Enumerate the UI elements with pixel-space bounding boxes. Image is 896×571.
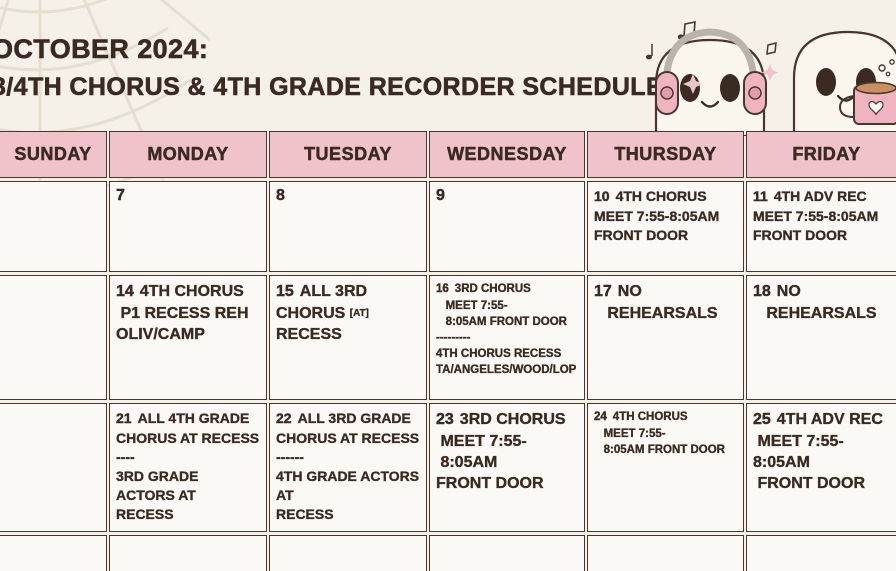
event-line: FRONT DOOR	[753, 473, 896, 494]
day-number: 23	[436, 411, 454, 429]
day-cell-empty[interactable]	[587, 535, 744, 571]
event-details: MEET 7:55- 8:05AM FRONT DOOR	[594, 426, 737, 458]
event-line: MEET 7:55-	[436, 431, 578, 452]
event-line: 8:05AM	[436, 452, 578, 473]
event-title: ALL 3RD	[300, 281, 367, 302]
ghost-illustrations	[560, 0, 896, 136]
event-title: 4TH ADV REC	[777, 409, 883, 430]
event-line: RECESS	[276, 324, 420, 345]
event-details: CHORUS [AT]RECESS	[276, 303, 420, 345]
event-line: FRONT DOOR	[594, 226, 737, 245]
day-cell-9[interactable]: 9	[429, 181, 585, 272]
dow-label: SUNDAY	[14, 144, 91, 165]
event-title: ALL 3RD GRADE	[298, 409, 411, 428]
event-title: 3RD CHORUS	[460, 409, 566, 430]
dow-sunday: SUNDAY	[0, 131, 107, 178]
ghost-with-coffee-icon	[794, 32, 896, 136]
event-line: 8:05AM	[753, 452, 896, 473]
day-number: 14	[116, 283, 134, 301]
event-line: 4TH GRADE ACTORS AT	[276, 467, 420, 505]
day-cell-8[interactable]: 8	[269, 181, 427, 272]
event-line: ------	[276, 448, 420, 467]
event-title: 4TH ADV REC	[774, 187, 867, 206]
day-number: 24	[594, 411, 607, 423]
day-number: 25	[753, 411, 771, 429]
day-cell-header: 233RD CHORUS	[436, 409, 578, 430]
day-number: 15	[276, 283, 294, 301]
event-details: P1 RECESS REHOLIV/CAMP	[116, 303, 260, 345]
event-line: REHEARSALS	[594, 303, 737, 324]
dow-label: TUESDAY	[304, 144, 392, 165]
event-line: MEET 7:55-	[436, 298, 578, 314]
day-cell-7[interactable]: 7	[109, 181, 267, 272]
ghost-with-headphones-icon	[656, 32, 779, 136]
event-line: REHEARSALS	[753, 303, 896, 324]
event-line: TA/ANGELES/WOOD/LOP	[436, 362, 578, 378]
event-details: MEET 7:55-8:05AMFRONT DOOR	[753, 207, 896, 245]
day-number: 9	[436, 187, 445, 205]
calendar-week-row: 789104TH CHORUSMEET 7:55-8:05AMFRONT DOO…	[0, 181, 896, 272]
day-cell-24[interactable]: 244TH CHORUS MEET 7:55- 8:05AM FRONT DOO…	[587, 403, 744, 532]
event-line: 8:05AM FRONT DOOR	[594, 442, 737, 458]
day-cell-header: 21ALL 4TH GRADE	[116, 409, 260, 428]
page-title-month: OCTOBER 2024:	[0, 32, 592, 66]
calendar-header: OCTOBER 2024: 3/4TH CHORUS & 4TH GRADE R…	[0, 0, 896, 131]
event-details: MEET 7:55-8:05AM FRONT DOOR	[753, 431, 896, 494]
dow-monday: MONDAY	[109, 131, 267, 178]
day-cell-header: 104TH CHORUS	[594, 187, 737, 206]
day-cell-18[interactable]: 18NO REHEARSALS	[746, 275, 896, 400]
day-cell-header: 244TH CHORUS	[594, 409, 737, 425]
event-line: OLIV/CAMP	[116, 324, 260, 345]
event-details: MEET 7:55- 8:05AMFRONT DOOR	[436, 431, 578, 494]
day-number: 7	[116, 187, 125, 205]
day-cell-22[interactable]: 22ALL 3RD GRADECHORUS AT RECESS------4TH…	[269, 403, 427, 532]
event-line: FRONT DOOR	[436, 473, 578, 494]
day-cell-17[interactable]: 17NO REHEARSALS	[587, 275, 744, 400]
day-cell-empty[interactable]	[0, 275, 107, 400]
music-notes-icon	[646, 0, 896, 59]
day-cell-11[interactable]: 114TH ADV RECMEET 7:55-8:05AMFRONT DOOR	[746, 181, 896, 272]
day-cell-25[interactable]: 254TH ADV REC MEET 7:55-8:05AM FRONT DOO…	[746, 403, 896, 532]
day-cell-empty[interactable]	[269, 535, 427, 571]
day-cell-header: 17NO	[594, 281, 737, 302]
day-cell-header: 22ALL 3RD GRADE	[276, 409, 420, 428]
event-details: REHEARSALS	[753, 303, 896, 324]
event-line: RECESS	[276, 505, 420, 524]
event-title: 4TH CHORUS	[616, 187, 707, 206]
event-title: ALL 4TH GRADE	[138, 409, 250, 428]
day-of-week-row: SUNDAY MONDAY TUESDAY WEDNESDAY THURSDAY…	[0, 131, 896, 178]
day-number: 22	[276, 410, 292, 426]
event-line: CHORUS AT RECESS	[276, 429, 420, 448]
day-cell-header: 163RD CHORUS	[436, 281, 578, 297]
dow-tuesday: TUESDAY	[269, 131, 427, 178]
dow-label: FRIDAY	[792, 144, 860, 165]
dow-wednesday: WEDNESDAY	[429, 131, 585, 178]
dow-label: WEDNESDAY	[447, 144, 567, 165]
day-cell-header: 8	[276, 187, 420, 205]
day-cell-21[interactable]: 21ALL 4TH GRADECHORUS AT RECESS----3RD G…	[109, 403, 267, 532]
day-cell-header: 7	[116, 187, 260, 205]
day-cell-header: 144TH CHORUS	[116, 281, 260, 302]
event-line: MEET 7:55-8:05AM	[594, 207, 737, 226]
day-cell-14[interactable]: 144TH CHORUS P1 RECESS REHOLIV/CAMP	[109, 275, 267, 400]
day-number: 21	[116, 410, 132, 426]
event-line: 3RD GRADE ACTORS AT	[116, 467, 260, 505]
day-cell-header: 9	[436, 187, 578, 205]
day-cell-10[interactable]: 104TH CHORUSMEET 7:55-8:05AMFRONT DOOR	[587, 181, 744, 272]
event-line: ----	[116, 448, 260, 467]
dow-friday: FRIDAY	[746, 131, 896, 178]
event-details: CHORUS AT RECESS----3RD GRADE ACTORS ATR…	[116, 429, 260, 524]
event-title: 4TH CHORUS	[613, 409, 688, 425]
calendar-week-row: 21ALL 4TH GRADECHORUS AT RECESS----3RD G…	[0, 403, 896, 532]
event-details: MEET 7:55-8:05AMFRONT DOOR	[594, 207, 737, 245]
day-cell-23[interactable]: 233RD CHORUS MEET 7:55- 8:05AMFRONT DOOR	[429, 403, 585, 532]
event-title: 4TH CHORUS	[140, 281, 244, 302]
day-number: 16	[436, 283, 449, 295]
day-cell-empty[interactable]	[0, 181, 107, 272]
day-number: 8	[276, 187, 285, 205]
dow-label: MONDAY	[147, 144, 228, 165]
event-line: MEET 7:55-8:05AM	[753, 207, 896, 226]
title-block: OCTOBER 2024: 3/4TH CHORUS & 4TH GRADE R…	[0, 32, 592, 104]
day-cell-header: 114TH ADV REC	[753, 187, 896, 206]
event-details: MEET 7:55- 8:05AM FRONT DOOR---------4TH…	[436, 298, 578, 378]
event-annotation: [AT]	[350, 308, 369, 319]
event-line: P1 RECESS REH	[116, 303, 260, 324]
event-title: 3RD CHORUS	[455, 281, 531, 297]
calendar-week-row: 144TH CHORUS P1 RECESS REHOLIV/CAMP15ALL…	[0, 275, 896, 400]
day-number: 11	[753, 188, 768, 204]
day-cell-15[interactable]: 15ALL 3RDCHORUS [AT]RECESS	[269, 275, 427, 400]
day-number: 18	[753, 283, 771, 301]
day-cell-empty[interactable]	[429, 535, 585, 571]
day-cell-empty[interactable]	[0, 403, 107, 532]
event-line: MEET 7:55-	[594, 426, 737, 442]
event-details: REHEARSALS	[594, 303, 737, 324]
dow-label: THURSDAY	[614, 144, 716, 165]
calendar-grid: SUNDAY MONDAY TUESDAY WEDNESDAY THURSDAY…	[0, 131, 896, 571]
event-line: FRONT DOOR	[753, 226, 896, 245]
day-cell-empty[interactable]	[109, 535, 267, 571]
event-line: 4TH CHORUS RECESS	[436, 346, 578, 362]
day-number: 17	[594, 283, 612, 301]
event-line: ---------	[436, 330, 578, 346]
page-title-subject: 3/4TH CHORUS & 4TH GRADE RECORDER SCHEDU…	[0, 70, 592, 104]
day-cell-empty[interactable]	[0, 535, 107, 571]
day-cell-header: 15ALL 3RD	[276, 281, 420, 302]
day-cell-empty[interactable]	[746, 535, 896, 571]
dow-thursday: THURSDAY	[587, 131, 744, 178]
event-line: CHORUS [AT]	[276, 303, 420, 324]
calendar-weeks: 789104TH CHORUSMEET 7:55-8:05AMFRONT DOO…	[0, 181, 896, 571]
day-number: 10	[594, 188, 610, 204]
event-line: MEET 7:55-	[753, 431, 896, 452]
calendar-week-row	[0, 535, 896, 571]
event-line: CHORUS AT RECESS	[116, 429, 260, 448]
day-cell-16[interactable]: 163RD CHORUS MEET 7:55- 8:05AM FRONT DOO…	[429, 275, 585, 400]
day-cell-header: 254TH ADV REC	[753, 409, 896, 430]
event-title: NO	[777, 281, 801, 302]
event-title: NO	[618, 281, 642, 302]
event-line: 8:05AM FRONT DOOR	[436, 314, 578, 330]
event-line: RECESS	[116, 505, 260, 524]
day-cell-header: 18NO	[753, 281, 896, 302]
event-details: CHORUS AT RECESS------4TH GRADE ACTORS A…	[276, 429, 420, 524]
